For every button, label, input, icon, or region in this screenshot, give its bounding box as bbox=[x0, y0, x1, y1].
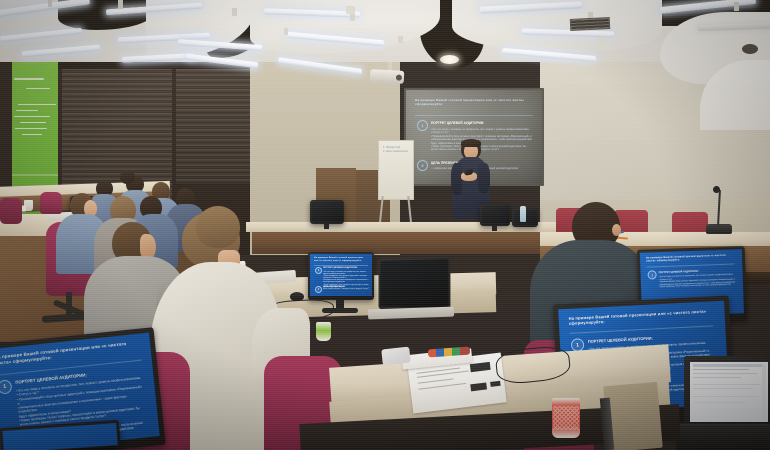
desk-microphone-head-icon bbox=[713, 186, 720, 193]
right-front-slide-title: На примере Вашей готовой презентации или… bbox=[569, 308, 713, 326]
ceiling-air-vent bbox=[570, 17, 611, 31]
attendee-right-ear bbox=[612, 224, 621, 236]
corner-laptop-keyboard[interactable] bbox=[676, 424, 770, 450]
center-slide-heading-2: ЦЕЛЬ ПРЕЗЕНТАЦИИ bbox=[323, 286, 349, 288]
ceiling-projector bbox=[370, 69, 405, 84]
corner-laptop-lid[interactable] bbox=[684, 356, 770, 426]
center-monitor-blue[interactable]: На примере Вашей готовой презентации или… bbox=[308, 252, 374, 300]
attendee-back-5-head bbox=[120, 170, 135, 184]
ceiling-speaker bbox=[742, 44, 758, 54]
ceiling-sensor-2 bbox=[598, 38, 606, 45]
center-slide-title: На примере Вашей готовой презентации или… bbox=[314, 257, 368, 263]
right-rear-slide-title: На примере Вашей готовой презентации или… bbox=[646, 254, 734, 264]
right-rear-body-1: • Кто эти люди у человека, их профессии,… bbox=[659, 273, 737, 288]
light-hanger-2 bbox=[118, 0, 123, 9]
presenter-arm-right bbox=[478, 163, 490, 193]
front-monitor-left-stand bbox=[324, 224, 329, 229]
ceiling-spotlight bbox=[440, 55, 459, 64]
front-desk-bottle bbox=[520, 206, 526, 222]
ceiling-sensor bbox=[346, 6, 355, 14]
attendee-cream-head bbox=[196, 206, 240, 248]
center-laptop-base[interactable] bbox=[368, 307, 454, 320]
light-hanger-3 bbox=[232, 8, 237, 16]
right-rear-bullet-1: 1 bbox=[647, 270, 656, 279]
chair-mid-left-1 bbox=[40, 192, 62, 214]
center-monitor-screen: На примере Вашей готовой презентации или… bbox=[310, 254, 372, 296]
center-slide-bullet-1: 1 bbox=[315, 267, 322, 274]
front-monitor-right-stand bbox=[492, 226, 497, 231]
window-blind-center bbox=[176, 64, 254, 184]
presenter-arm-left bbox=[451, 163, 462, 195]
presenter-hair-front bbox=[461, 139, 481, 147]
light-hanger-8 bbox=[284, 28, 288, 35]
desk-white-phone bbox=[381, 347, 411, 366]
chair-back-row-1 bbox=[0, 198, 22, 224]
center-desk-cup-green bbox=[316, 322, 331, 341]
light-hanger-6 bbox=[734, 2, 739, 11]
classroom-photo: На примере Вашей готовой презентации или… bbox=[0, 0, 770, 450]
flipchart-board: 1. Портрет ЦА 2. Цель презентации bbox=[378, 140, 414, 200]
front-monitor-left bbox=[310, 200, 344, 224]
light-hanger-7 bbox=[398, 36, 403, 43]
corner-laptop-document bbox=[690, 362, 768, 422]
center-slide-bullet-2: 2 bbox=[315, 286, 322, 293]
left-front-bullet-1: 1 bbox=[0, 379, 12, 394]
flipchart-text-line-2: 2. Цель презентации bbox=[383, 150, 408, 153]
coffee-cup-pattern bbox=[553, 406, 579, 430]
flipchart-text-line-1: 1. Портрет ЦА bbox=[383, 146, 400, 149]
projector-lens-icon bbox=[396, 74, 402, 80]
light-hanger-1 bbox=[48, 0, 52, 7]
center-laptop-lid[interactable] bbox=[379, 257, 451, 311]
center-slide-heading-1: ПОРТРЕТ ЦЕЛЕВОЙ АУДИТОРИИ: bbox=[323, 267, 369, 269]
left-front-body-1: • Кто эти люди у человека, их профессии,… bbox=[16, 375, 147, 427]
front-monitor-right bbox=[480, 204, 510, 226]
